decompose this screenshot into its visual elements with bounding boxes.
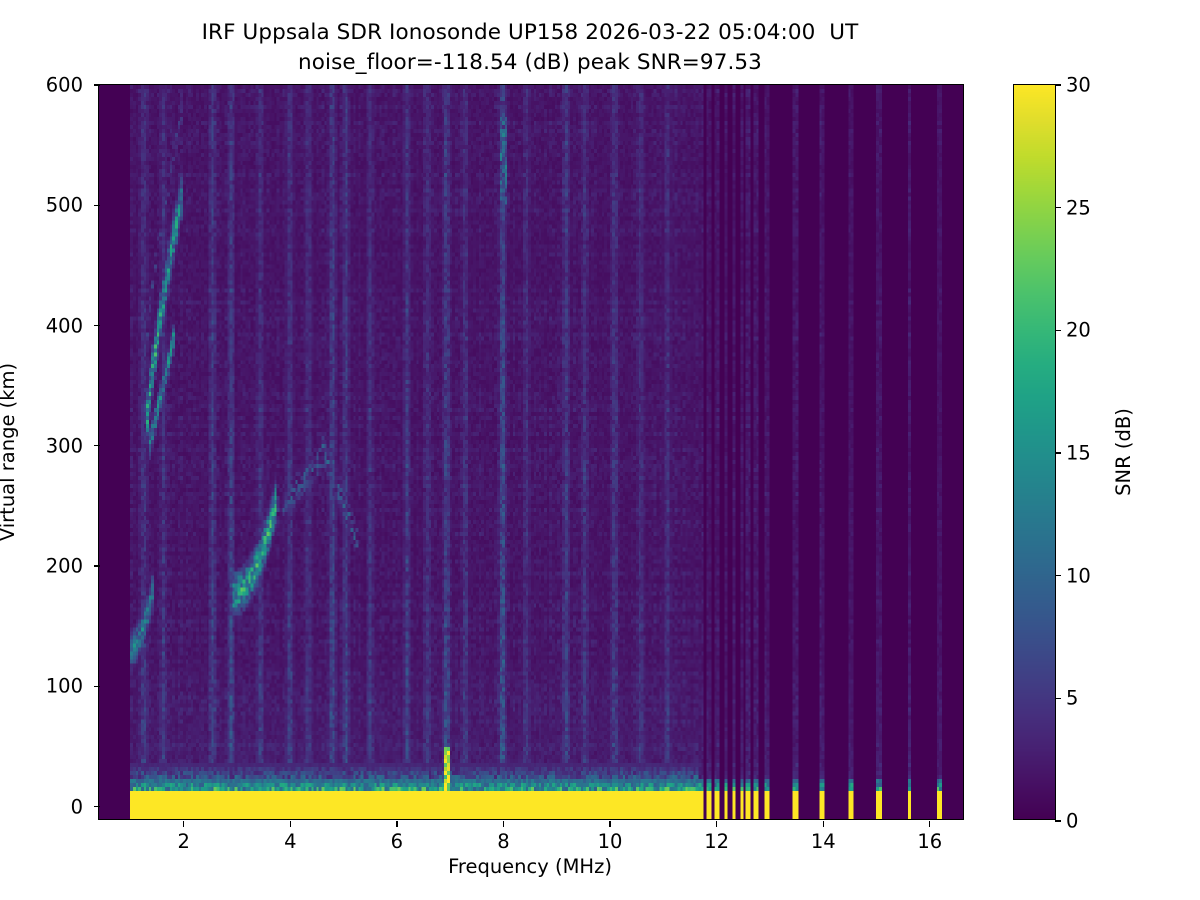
colorbar-tick — [1055, 820, 1061, 821]
x-axis-tick-label: 8 — [497, 830, 509, 853]
x-axis-tick — [503, 821, 504, 827]
x-axis-tick-label: 12 — [704, 830, 729, 853]
y-axis-tick — [94, 84, 100, 85]
x-axis-tick-label: 4 — [284, 830, 296, 853]
x-axis-tick-label: 10 — [598, 830, 623, 853]
y-axis-tick-label: 500 — [0, 194, 83, 217]
colorbar: 051015202530 — [1013, 84, 1056, 820]
colorbar-tick — [1055, 698, 1061, 699]
title-line-2: noise_floor=-118.54 (dB) peak SNR=97.53 — [0, 48, 1060, 78]
colorbar-tick — [1055, 84, 1061, 85]
y-axis-label: Virtual range (km) — [0, 363, 19, 541]
colorbar-gradient — [1014, 85, 1055, 819]
y-axis-tick — [94, 325, 100, 326]
y-axis-tick — [94, 205, 100, 206]
y-axis-tick-label: 0 — [0, 795, 83, 818]
x-axis-tick-label: 16 — [917, 830, 942, 853]
x-axis-tick — [929, 821, 930, 827]
figure-title: IRF Uppsala SDR Ionosonde UP158 2026-03-… — [0, 18, 1060, 78]
colorbar-tick-label: 30 — [1066, 74, 1091, 97]
title-line-1: IRF Uppsala SDR Ionosonde UP158 2026-03-… — [0, 18, 1060, 48]
y-axis-tick-label: 400 — [0, 314, 83, 337]
colorbar-tick-label: 10 — [1066, 564, 1091, 587]
colorbar-tick-label: 5 — [1066, 687, 1078, 710]
x-axis-tick — [716, 821, 717, 827]
colorbar-tick-label: 20 — [1066, 319, 1091, 342]
x-axis-label: Frequency (MHz) — [0, 855, 1060, 878]
y-axis-tick — [94, 806, 100, 807]
x-axis-tick-label: 6 — [391, 830, 403, 853]
y-axis-tick-label: 600 — [0, 74, 83, 97]
x-axis-tick-label: 2 — [178, 830, 190, 853]
x-axis-tick-label: 14 — [811, 830, 836, 853]
colorbar-tick — [1055, 207, 1061, 208]
y-axis-tick — [94, 445, 100, 446]
colorbar-tick — [1055, 330, 1061, 331]
colorbar-label: SNR (dB) — [1112, 408, 1135, 496]
y-axis-tick-label: 200 — [0, 555, 83, 578]
colorbar-tick-label: 0 — [1066, 810, 1078, 833]
x-axis-tick — [609, 821, 610, 827]
x-axis-tick — [396, 821, 397, 827]
ionogram-heatmap — [99, 85, 963, 819]
colorbar-tick — [1055, 452, 1061, 453]
y-axis-tick — [94, 565, 100, 566]
y-axis-tick-label: 100 — [0, 675, 83, 698]
colorbar-tick-label: 25 — [1066, 196, 1091, 219]
ionogram-axes: 0100200300400500600246810121416 — [98, 84, 964, 820]
y-axis-tick — [94, 686, 100, 687]
colorbar-tick — [1055, 575, 1061, 576]
ionogram-figure: IRF Uppsala SDR Ionosonde UP158 2026-03-… — [0, 0, 1200, 900]
x-axis-tick — [290, 821, 291, 827]
x-axis-tick — [183, 821, 184, 827]
x-axis-tick — [823, 821, 824, 827]
colorbar-tick-label: 15 — [1066, 442, 1091, 465]
